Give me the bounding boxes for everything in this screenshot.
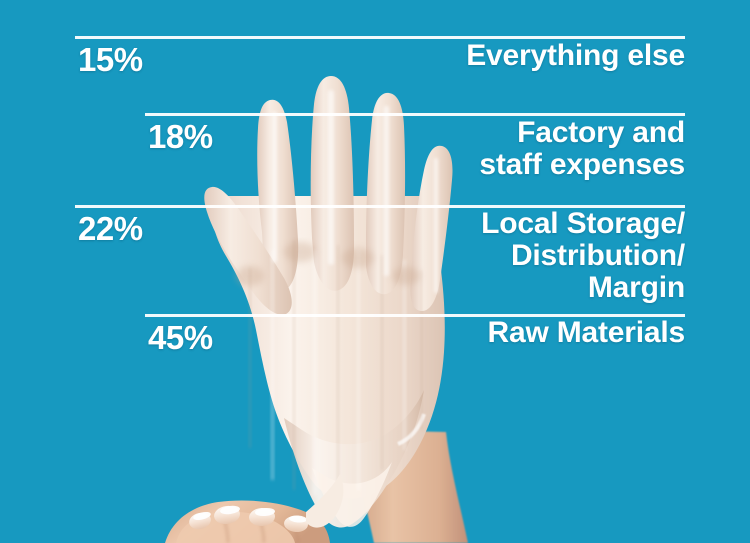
percent-label-1: 15% (78, 43, 143, 76)
percent-label-4: 45% (148, 321, 213, 354)
category-label-3: Local Storage/ Distribution/ Margin (481, 208, 685, 303)
category-label-2: Factory and staff expenses (479, 117, 685, 181)
category-label-4: Raw Materials (488, 317, 685, 349)
infographic-canvas: 15% Everything else 18% Factory and staf… (0, 0, 750, 543)
chart-overlay: 15% Everything else 18% Factory and staf… (0, 0, 750, 543)
category-label-1: Everything else (466, 40, 685, 72)
percent-label-2: 18% (148, 120, 213, 153)
percent-label-3: 22% (78, 212, 143, 245)
